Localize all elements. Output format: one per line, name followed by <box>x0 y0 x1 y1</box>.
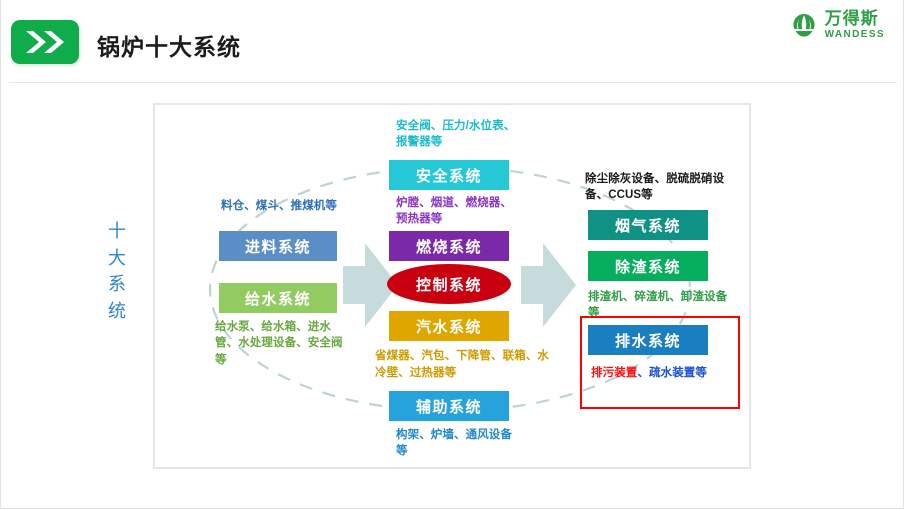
wandess-plant-logo-icon <box>789 10 819 40</box>
side-label-ten-systems: 十 大 系 统 <box>104 218 130 325</box>
caption-drainage-emphasis: 排污装置 <box>591 367 637 379</box>
node-label: 除渣系统 <box>615 256 681 277</box>
node-label: 安全系统 <box>416 165 482 186</box>
node-label: 辅助系统 <box>416 396 482 417</box>
node-label: 汽水系统 <box>416 316 482 337</box>
node-label: 烟气系统 <box>615 215 681 236</box>
caption-drainage: 排污装置、疏水装置等 <box>591 365 721 381</box>
side-label-char: 系 <box>104 271 130 298</box>
brand-name-en: WANDESS <box>825 30 885 40</box>
caption-safety: 安全阀、压力/水位表、报警器等 <box>396 118 526 151</box>
node-label: 给水系统 <box>245 288 311 309</box>
node-label: 进料系统 <box>245 236 311 257</box>
node-feed-system[interactable]: 进料系统 <box>219 231 337 261</box>
page-title: 锅炉十大系统 <box>97 28 241 62</box>
caption-combustion: 炉膛、烟道、燃烧器、预热器等 <box>396 195 521 228</box>
caption-water-supply: 给水泵、给水箱、进水管、水处理设备、安全阀等 <box>215 319 350 368</box>
caption-flue-gas: 除尘除灰设备、脱硫脱硝设备、CCUS等 <box>585 171 735 204</box>
side-label-char: 大 <box>104 245 130 272</box>
boiler-systems-diagram: 料仓、煤斗、推煤机等 进料系统 给水系统 给水泵、给水箱、进水管、水处理设备、安… <box>153 103 751 469</box>
node-label: 排水系统 <box>615 330 681 351</box>
node-flue-gas-system[interactable]: 烟气系统 <box>588 210 708 240</box>
node-drainage-system[interactable]: 排水系统 <box>588 325 708 355</box>
side-label-char: 统 <box>104 298 130 325</box>
node-safety-system[interactable]: 安全系统 <box>389 160 509 190</box>
arrow-stage-2-to-3 <box>521 243 576 327</box>
header-divider <box>9 82 897 83</box>
caption-feed: 料仓、煤斗、推煤机等 <box>221 198 346 214</box>
caption-auxiliary: 构架、炉墙、通风设备等 <box>396 427 521 460</box>
brand-logo: 万得斯 WANDESS <box>789 10 885 40</box>
node-combustion-system[interactable]: 燃烧系统 <box>389 231 509 261</box>
node-label: 控制系统 <box>416 274 482 295</box>
caption-drainage-rest: 、疏水装置等 <box>637 367 707 379</box>
side-label-char: 十 <box>104 218 130 245</box>
node-water-supply-system[interactable]: 给水系统 <box>219 283 337 313</box>
node-control-system[interactable]: 控制系统 <box>387 264 511 304</box>
node-slag-removal-system[interactable]: 除渣系统 <box>588 251 708 281</box>
slide-canvas: 锅炉十大系统 万得斯 WANDESS 十 大 系 统 <box>0 0 904 509</box>
brand-name-cn: 万得斯 <box>825 10 885 27</box>
caption-steam-water: 省煤器、汽包、下降管、联箱、水冷壁、过热器等 <box>375 348 550 381</box>
node-label: 燃烧系统 <box>416 236 482 257</box>
node-steam-water-system[interactable]: 汽水系统 <box>389 311 509 341</box>
slide-header: 锅炉十大系统 万得斯 WANDESS <box>1 0 904 83</box>
double-chevron-right-icon <box>11 20 79 64</box>
node-auxiliary-system[interactable]: 辅助系统 <box>389 391 509 421</box>
